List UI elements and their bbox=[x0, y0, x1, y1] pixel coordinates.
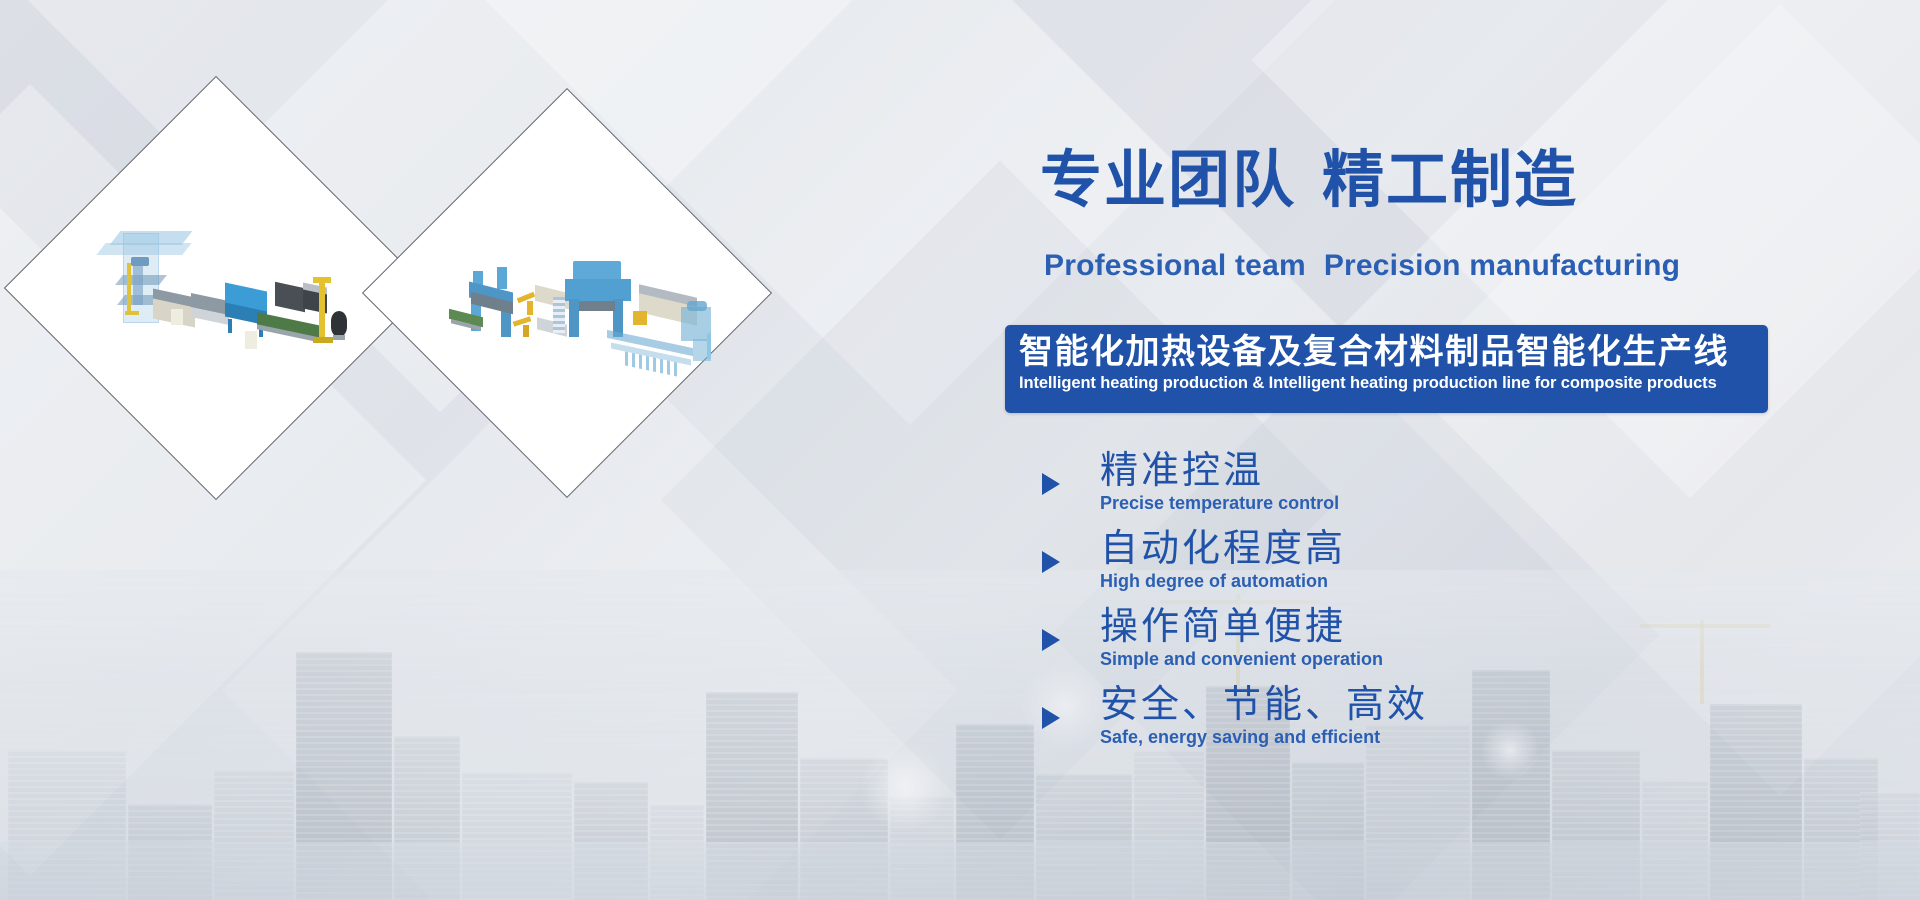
feature-label-en: Simple and convenient operation bbox=[1100, 649, 1600, 670]
ribbon-title-cn: 智能化加热设备及复合材料制品智能化生产线 bbox=[1019, 332, 1758, 372]
promotional-banner: 专业团队精工制造 Professional teamPrecision manu… bbox=[0, 0, 1920, 900]
triangle-right-icon bbox=[1042, 629, 1060, 651]
feature-label-en: High degree of automation bbox=[1100, 571, 1600, 592]
triangle-right-icon bbox=[1042, 473, 1060, 495]
feature-label-cn: 安全、节能、高效 bbox=[1100, 686, 1600, 726]
page-subtitle: Professional teamPrecision manufacturing bbox=[1044, 249, 1680, 283]
feature-label-en: Precise temperature control bbox=[1100, 493, 1600, 514]
product-image-right bbox=[362, 88, 772, 498]
product-image-left bbox=[4, 76, 428, 500]
headline-cn-part1: 专业团队 bbox=[1040, 146, 1296, 215]
feature-label-cn: 自动化程度高 bbox=[1100, 530, 1600, 570]
triangle-right-icon bbox=[1042, 551, 1060, 573]
feature-list: 精准控温 Precise temperature control 自动化程度高 … bbox=[1040, 452, 1600, 764]
feature-label-cn: 操作简单便捷 bbox=[1100, 608, 1600, 648]
triangle-right-icon bbox=[1042, 707, 1060, 729]
list-item: 安全、节能、高效 Safe, energy saving and efficie… bbox=[1040, 686, 1600, 764]
headline-en-part2: Precision manufacturing bbox=[1324, 249, 1680, 282]
list-item: 精准控温 Precise temperature control bbox=[1040, 452, 1600, 530]
list-item: 自动化程度高 High degree of automation bbox=[1040, 530, 1600, 608]
feature-label-cn: 精准控温 bbox=[1100, 452, 1600, 492]
city-skyline-photo bbox=[0, 570, 1920, 900]
list-item: 操作简单便捷 Simple and convenient operation bbox=[1040, 608, 1600, 686]
product-line-ribbon: 智能化加热设备及复合材料制品智能化生产线 Intelligent heating… bbox=[1005, 325, 1768, 413]
page-title: 专业团队精工制造 bbox=[1040, 150, 1578, 212]
ribbon-title-en: Intelligent heating production & Intelli… bbox=[1019, 374, 1758, 393]
headline-en-part1: Professional team bbox=[1044, 249, 1306, 282]
headline-cn-part2: 精工制造 bbox=[1322, 146, 1578, 215]
feature-label-en: Safe, energy saving and efficient bbox=[1100, 727, 1600, 748]
